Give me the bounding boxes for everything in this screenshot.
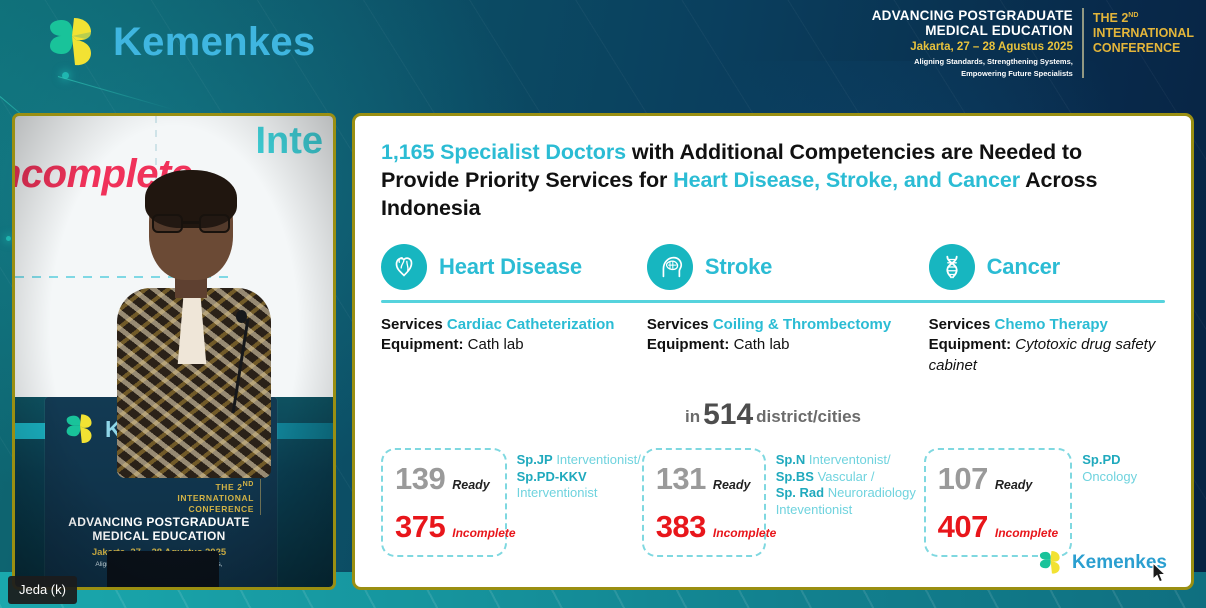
incomplete-label: Incomplete xyxy=(713,526,776,540)
services-heart: Services Cardiac Catheterization Equipme… xyxy=(381,315,647,377)
ready-value: 139 xyxy=(395,461,445,497)
stat-specialty-desc: Sp.PD Oncology xyxy=(1072,448,1137,485)
speaker-figure xyxy=(119,176,269,476)
stat-group-stroke: 131 Ready 383 Incomplete Sp.N Intervento… xyxy=(642,448,924,557)
specialty-code: Sp.PD-KKV xyxy=(517,469,587,484)
services-label: Services xyxy=(647,316,709,333)
headline-count: 1,165 Specialist Doctors xyxy=(381,140,626,164)
district-prefix: in xyxy=(685,407,700,426)
brand-line-1: ADVANCING POSTGRADUATE xyxy=(872,8,1073,23)
stat-group-heart: 139 Ready 375 Incomplete Sp.JP Intervent… xyxy=(381,448,642,557)
stat-incomplete-row: 375 Incomplete xyxy=(395,509,493,545)
top-bar: Kemenkes ADVANCING POSTGRADUATE MEDICAL … xyxy=(0,0,1206,100)
services-stroke: Services Coiling & Thrombectomy Equipmen… xyxy=(647,315,929,377)
brand-date: Jakarta, 27 – 28 Agustus 2025 xyxy=(872,40,1073,55)
equipment-value: Cath lab xyxy=(468,336,524,353)
ready-label: Ready xyxy=(995,478,1033,492)
incomplete-label: Incomplete xyxy=(452,526,515,540)
district-summary: in514district/cities xyxy=(381,398,1165,432)
brand-tagline-2: Empowering Future Specialists xyxy=(872,69,1073,79)
specialty-text: Interventionist/ xyxy=(553,452,641,467)
services-label: Services xyxy=(381,316,443,333)
ready-label: Ready xyxy=(713,478,751,492)
brand-conference: CONFERENCE xyxy=(1093,41,1194,56)
podium-conference-lines: THE 2ND INTERNATIONAL CONFERENCE xyxy=(177,479,261,515)
brain-head-icon xyxy=(647,244,693,290)
incomplete-value: 407 xyxy=(938,509,988,545)
kemenkes-wordmark: Kemenkes xyxy=(113,20,316,65)
slide-headline: 1,165 Specialist Doctors with Additional… xyxy=(381,138,1165,222)
specialty-text: Interventonist/ xyxy=(805,452,890,467)
dna-icon xyxy=(929,244,975,290)
projection-text-inte: Inte xyxy=(255,120,323,163)
stat-ready-row: 131 Ready xyxy=(656,461,752,497)
ready-label: Ready xyxy=(452,478,490,492)
decor-node xyxy=(6,236,11,241)
stat-ready-row: 139 Ready xyxy=(395,461,493,497)
mouse-cursor xyxy=(1152,562,1168,589)
kemenkes-flower-icon xyxy=(63,413,97,445)
podium-title-2: MEDICAL EDUCATION xyxy=(55,529,263,543)
district-number: 514 xyxy=(703,398,753,431)
category-title: Cancer xyxy=(987,254,1060,280)
specialty-code: Sp.BS xyxy=(776,469,814,484)
services-row: Services Cardiac Catheterization Equipme… xyxy=(381,315,1165,377)
kemenkes-flower-icon xyxy=(1037,550,1064,575)
district-suffix: district/cities xyxy=(756,407,861,426)
stat-specialty-desc: Sp.N Interventonist/ Sp.BS Vascular / Sp… xyxy=(766,448,924,518)
services-cancer: Services Chemo Therapy Equipment: Cytoto… xyxy=(929,315,1165,377)
services-value: Chemo Therapy xyxy=(995,316,1108,333)
specialty-text: Oncology xyxy=(1082,469,1137,484)
stat-card: 139 Ready 375 Incomplete xyxy=(381,448,507,557)
conference-branding: ADVANCING POSTGRADUATE MEDICAL EDUCATION… xyxy=(872,8,1194,78)
stat-incomplete-row: 407 Incomplete xyxy=(938,509,1059,545)
stat-card: 107 Ready 407 Incomplete xyxy=(924,448,1073,557)
stats-row: 139 Ready 375 Incomplete Sp.JP Intervent… xyxy=(381,448,1165,557)
specialty-text: Vascular / xyxy=(814,469,874,484)
brand-the-2nd: THE 2ND xyxy=(1093,8,1194,26)
slide-footer-logo: Kemenkes xyxy=(1037,550,1167,575)
stat-specialty-desc: Sp.JP Interventionist/ Sp.PD-KKV Interve… xyxy=(507,448,642,502)
equipment-label: Equipment: xyxy=(381,336,464,353)
specialty-code: Sp.PD xyxy=(1082,452,1120,467)
specialty-code: Sp.JP xyxy=(517,452,553,467)
kemenkes-flower-icon xyxy=(44,16,100,68)
podium-the-2nd: THE 2ND xyxy=(177,479,254,493)
services-value: Coiling & Thrombectomy xyxy=(713,316,891,333)
pause-tooltip: Jeda (k) xyxy=(8,576,77,604)
incomplete-value: 375 xyxy=(395,509,445,545)
category-title: Heart Disease xyxy=(439,254,582,280)
incomplete-value: 383 xyxy=(656,509,706,545)
stat-ready-row: 107 Ready xyxy=(938,461,1059,497)
category-header-row: Heart Disease Stroke Cancer xyxy=(381,244,1165,290)
services-value: Cardiac Catheterization xyxy=(447,316,615,333)
stat-card: 131 Ready 383 Incomplete xyxy=(642,448,766,557)
category-divider xyxy=(381,300,1165,303)
specialty-code: Sp.N xyxy=(776,452,806,467)
services-label: Services xyxy=(929,316,991,333)
category-stroke: Stroke xyxy=(647,244,929,290)
podium-title-1: ADVANCING POSTGRADUATE xyxy=(55,515,263,529)
speaker-video-panel[interactable]: ncomplete Inte Kemenkes THE 2ND INTERNAT… xyxy=(12,113,336,590)
incomplete-label: Incomplete xyxy=(995,526,1058,540)
equipment-value: Cath lab xyxy=(734,336,790,353)
stat-group-cancer: 107 Ready 407 Incomplete Sp.PD Oncology xyxy=(924,448,1165,557)
category-title: Stroke xyxy=(705,254,772,280)
ready-value: 107 xyxy=(938,461,988,497)
brand-international: INTERNATIONAL xyxy=(1093,26,1194,41)
podium-conference: CONFERENCE xyxy=(177,504,254,515)
kemenkes-logo: Kemenkes xyxy=(44,16,316,68)
equipment-label: Equipment: xyxy=(647,336,730,353)
ready-value: 131 xyxy=(656,461,706,497)
stat-incomplete-row: 383 Incomplete xyxy=(656,509,752,545)
equipment-label: Equipment: xyxy=(929,336,1012,353)
speaker-glasses xyxy=(152,214,230,233)
category-cancer: Cancer xyxy=(929,244,1165,290)
heart-icon xyxy=(381,244,427,290)
brand-line-2: MEDICAL EDUCATION xyxy=(872,23,1073,38)
specialty-code: Sp. Rad xyxy=(776,485,824,500)
brand-tagline-1: Aligning Standards, Strengthening System… xyxy=(872,57,1073,67)
category-heart-disease: Heart Disease xyxy=(381,244,647,290)
podium-laptop xyxy=(107,551,219,587)
podium-international: INTERNATIONAL xyxy=(177,493,254,504)
headline-diseases: Heart Disease, Stroke, and Cancer xyxy=(673,168,1020,192)
slide-panel: 1,165 Specialist Doctors with Additional… xyxy=(352,113,1194,590)
specialty-text: Interventionist xyxy=(517,485,598,500)
